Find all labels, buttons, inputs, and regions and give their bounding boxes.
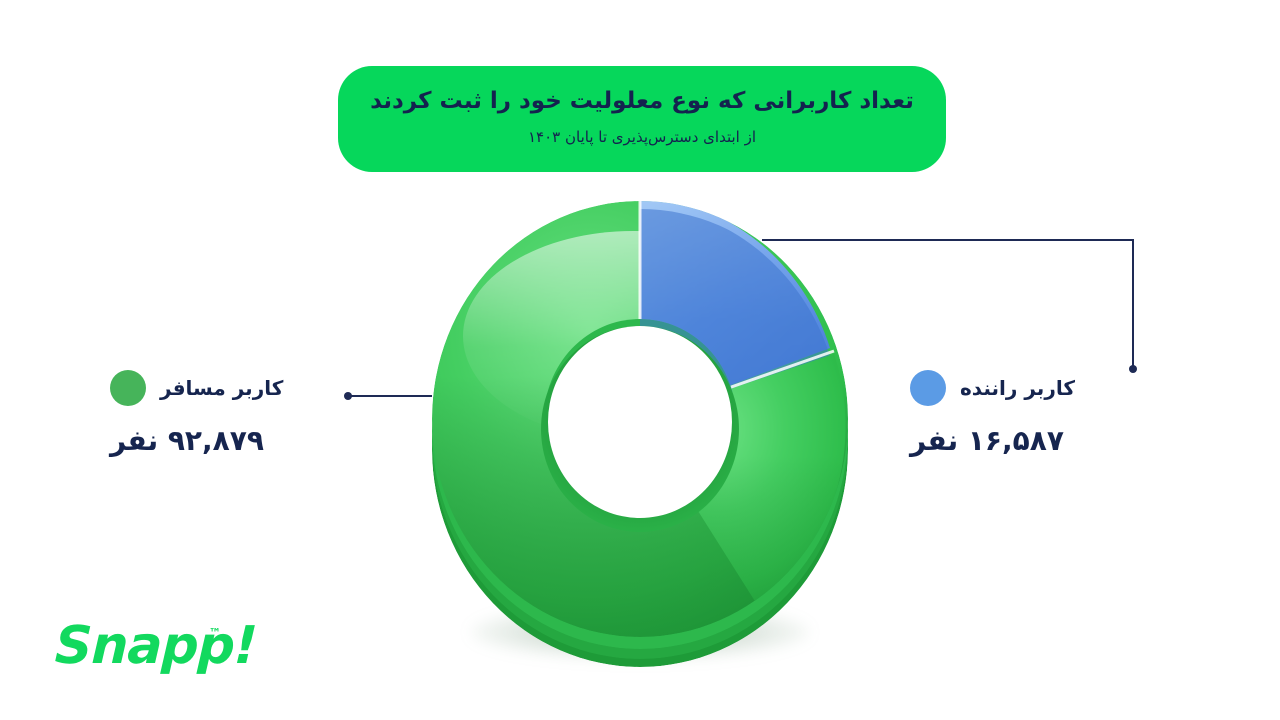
snapp-logo: Snapp! ™ xyxy=(55,620,255,682)
infographic-canvas: تعداد کاربرانی که نوع معلولیت خود را ثبت… xyxy=(0,0,1280,720)
page-subtitle: از ابتدای دسترس‌پذیری تا پایان ۱۴۰۳ xyxy=(528,127,756,148)
page-title: تعداد کاربرانی که نوع معلولیت خود را ثبت… xyxy=(370,86,914,117)
legend-passenger-value: ۹۲,۸۷۹ نفر xyxy=(110,424,264,457)
donut-chart xyxy=(418,186,862,686)
legend-driver-label: کاربر راننده xyxy=(960,376,1075,400)
snapp-logo-text: Snapp! xyxy=(54,620,258,672)
donut-chart-svg xyxy=(418,186,862,686)
legend-driver[interactable]: کاربر راننده ۱۶,۵۸۷ نفر xyxy=(910,370,1160,457)
legend-driver-row: کاربر راننده xyxy=(910,370,1075,406)
donut-inner-hole xyxy=(541,326,739,532)
title-banner: تعداد کاربرانی که نوع معلولیت خود را ثبت… xyxy=(338,66,946,172)
trademark-icon: ™ xyxy=(209,626,221,640)
legend-passenger-label: کاربر مسافر xyxy=(160,376,283,400)
legend-passenger-row: کاربر مسافر xyxy=(110,370,283,406)
legend-driver-color-dot xyxy=(910,370,946,406)
legend-driver-value: ۱۶,۵۸۷ نفر xyxy=(910,424,1074,457)
legend-passenger-color-dot xyxy=(110,370,146,406)
legend-passenger[interactable]: کاربر مسافر ۹۲,۸۷۹ نفر xyxy=(110,370,360,457)
